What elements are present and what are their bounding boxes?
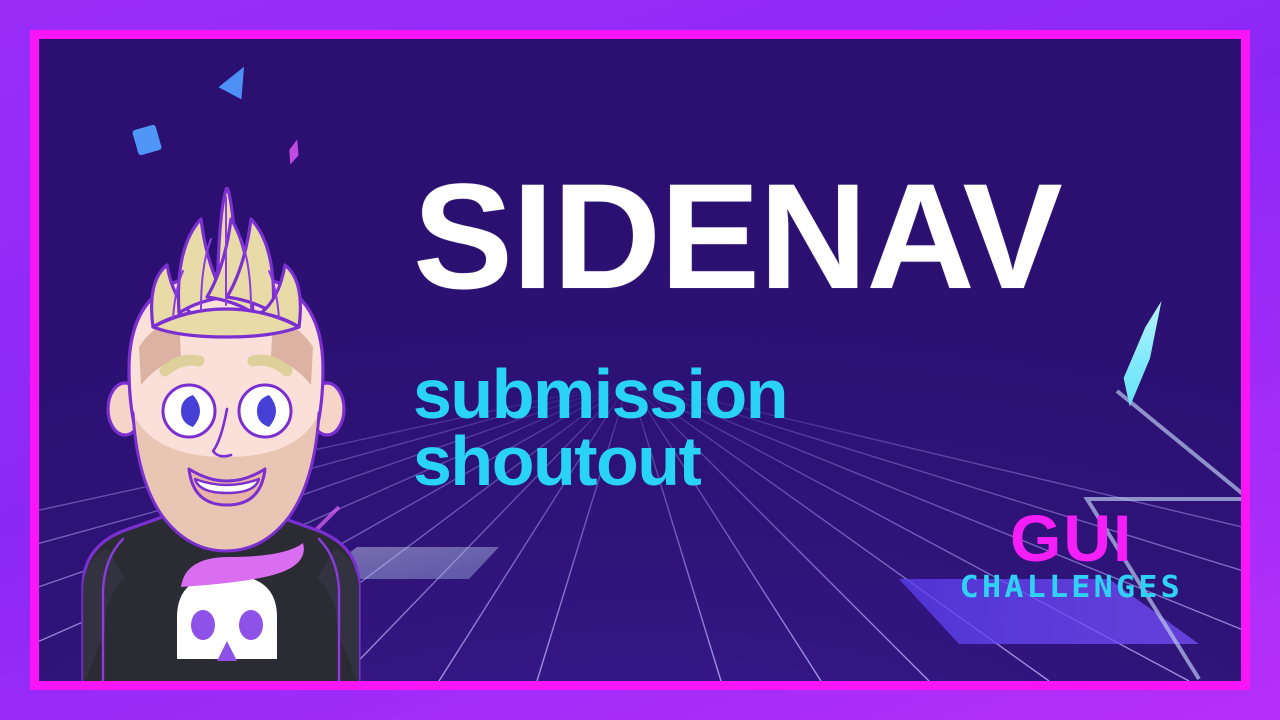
subtitle-line-2: shoutout <box>413 428 787 495</box>
subtitle-block: submission shoutout <box>413 361 787 495</box>
title-block: SIDENAV <box>413 167 1062 305</box>
page-title: SIDENAV <box>413 167 1062 305</box>
thumbnail-canvas: SIDENAV submission shoutout GUI CHALLENG… <box>39 39 1241 681</box>
gui-challenges-logo: GUI CHALLENGES <box>966 505 1177 603</box>
avatar-svg <box>61 187 421 681</box>
logo-secondary-text: CHALLENGES <box>960 573 1183 603</box>
host-avatar <box>61 187 421 681</box>
subtitle-line-1: submission <box>413 361 787 428</box>
video-thumbnail: SIDENAV submission shoutout GUI CHALLENG… <box>0 0 1280 720</box>
neon-frame-border: SIDENAV submission shoutout GUI CHALLENG… <box>30 30 1250 690</box>
logo-primary-text: GUI <box>966 505 1177 571</box>
